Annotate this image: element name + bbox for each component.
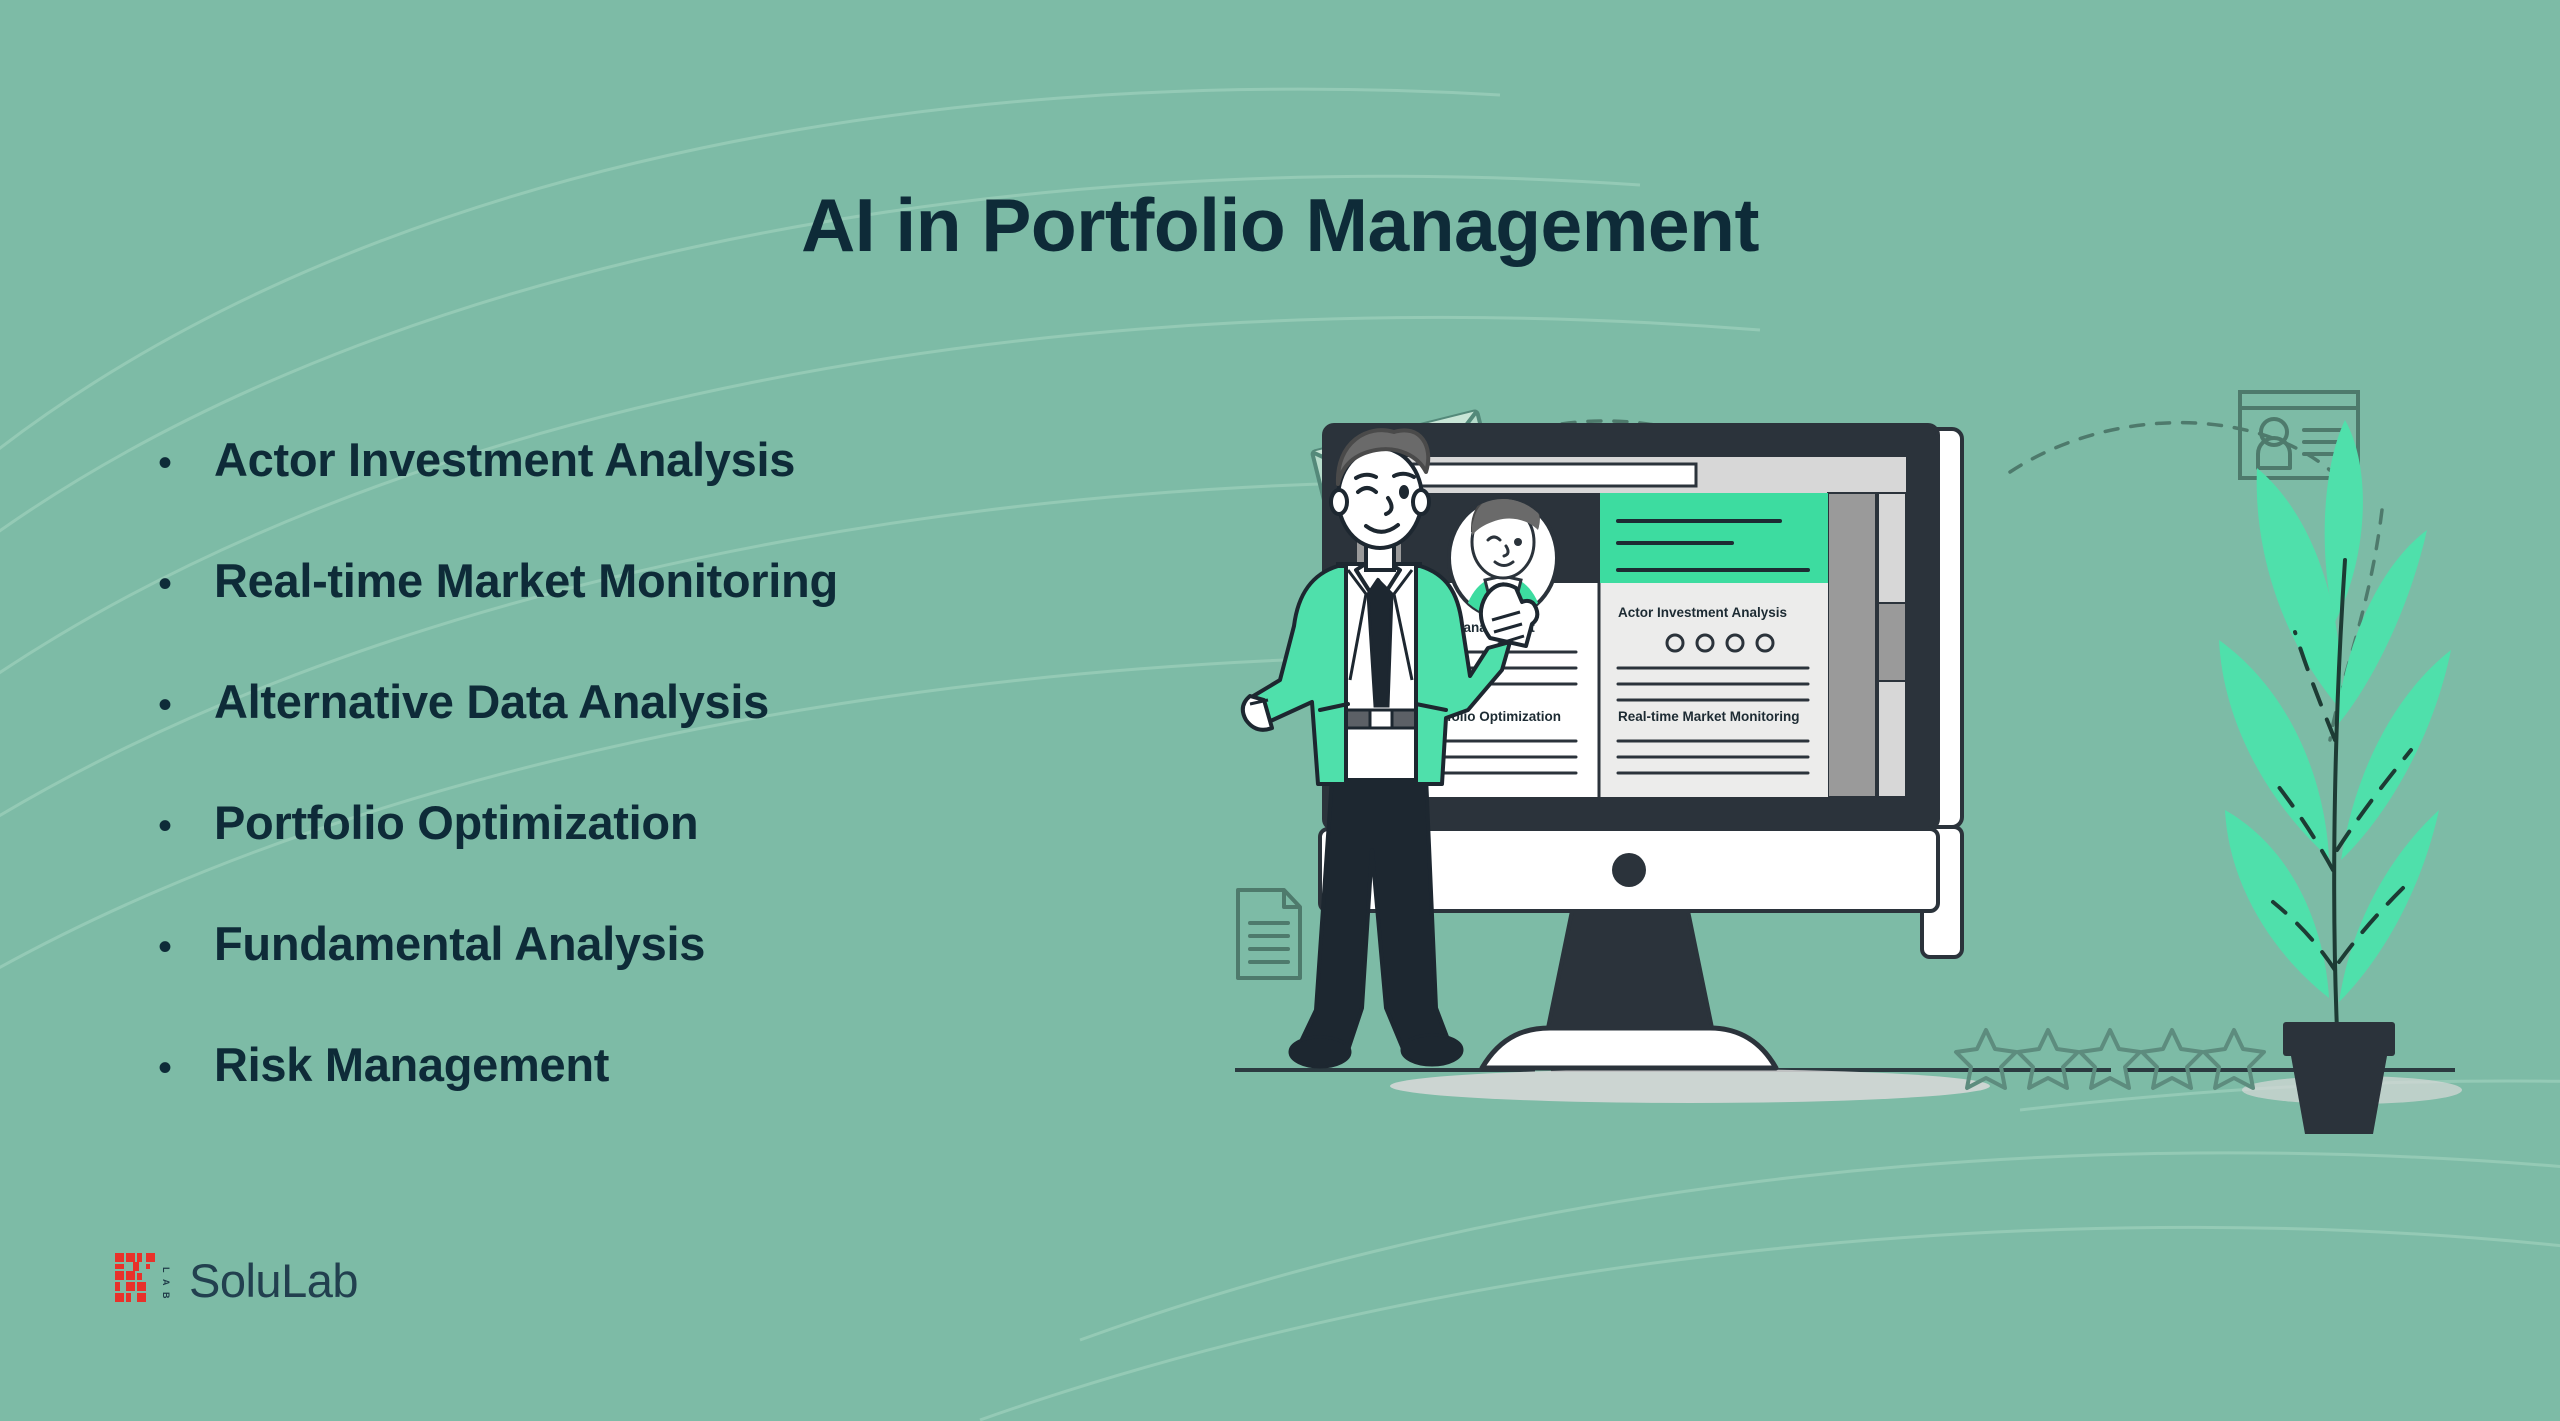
star-rating (1956, 1030, 2264, 1088)
star-icon (2204, 1030, 2264, 1088)
star-icon (2142, 1030, 2202, 1088)
list-item: • Fundamental Analysis (158, 916, 838, 1037)
star-icon (2018, 1030, 2078, 1088)
star-icon (2080, 1030, 2140, 1088)
screen-card-title: Actor Investment Analysis (1618, 605, 1787, 620)
bullet-glyph: • (158, 564, 214, 604)
svg-text:L: L (161, 1267, 171, 1273)
screen-right-rail (1828, 493, 1876, 797)
floor-shadow (1390, 1069, 1990, 1103)
list-item: • Alternative Data Analysis (158, 674, 838, 795)
list-item: • Risk Management (158, 1037, 838, 1158)
character-head (1331, 430, 1429, 548)
potted-plant (2219, 420, 2451, 1134)
feature-label: Alternative Data Analysis (214, 674, 769, 729)
screen-scrollbar-thumb (1878, 603, 1906, 681)
bullet-glyph: • (158, 1048, 214, 1088)
svg-text:B: B (161, 1292, 171, 1299)
feature-label: Real-time Market Monitoring (214, 553, 838, 608)
bullet-glyph: • (158, 685, 214, 725)
feature-label: Fundamental Analysis (214, 916, 705, 971)
feature-label: Risk Management (214, 1037, 609, 1092)
feature-label: Portfolio Optimization (214, 795, 698, 850)
list-item: • Actor Investment Analysis (158, 432, 838, 553)
infographic-canvas: AI in Portfolio Management • Actor Inves… (0, 0, 2560, 1421)
monitor-power-button (1612, 853, 1646, 887)
illustration-scene: Risk Management Portfolio Optimization (1220, 380, 2510, 1140)
solulab-wordmark: SoluLab (189, 1253, 358, 1308)
solulab-logo[interactable]: L A B SoluLab (113, 1249, 358, 1311)
feature-list: • Actor Investment Analysis • Real-time … (158, 432, 838, 1158)
monitor-stand-neck (1548, 911, 1712, 1028)
page-title: AI in Portfolio Management (0, 182, 2560, 268)
list-item: • Portfolio Optimization (158, 795, 838, 916)
hero-banner (1600, 493, 1828, 583)
bullet-glyph: • (158, 443, 214, 483)
list-item: • Real-time Market Monitoring (158, 553, 838, 674)
monitor-stand-base (1482, 1028, 1776, 1068)
document-icon (1238, 890, 1300, 978)
browser-url-bar (1396, 464, 1696, 486)
plant-pot (2283, 1022, 2395, 1134)
feature-label: Actor Investment Analysis (214, 432, 795, 487)
solulab-logo-mark: L A B (113, 1249, 175, 1311)
bullet-glyph: • (158, 927, 214, 967)
bullet-glyph: • (158, 806, 214, 846)
hand-on-hip (1243, 696, 1272, 730)
svg-text:A: A (161, 1279, 171, 1286)
screen-card-title: Real-time Market Monitoring (1618, 709, 1800, 724)
